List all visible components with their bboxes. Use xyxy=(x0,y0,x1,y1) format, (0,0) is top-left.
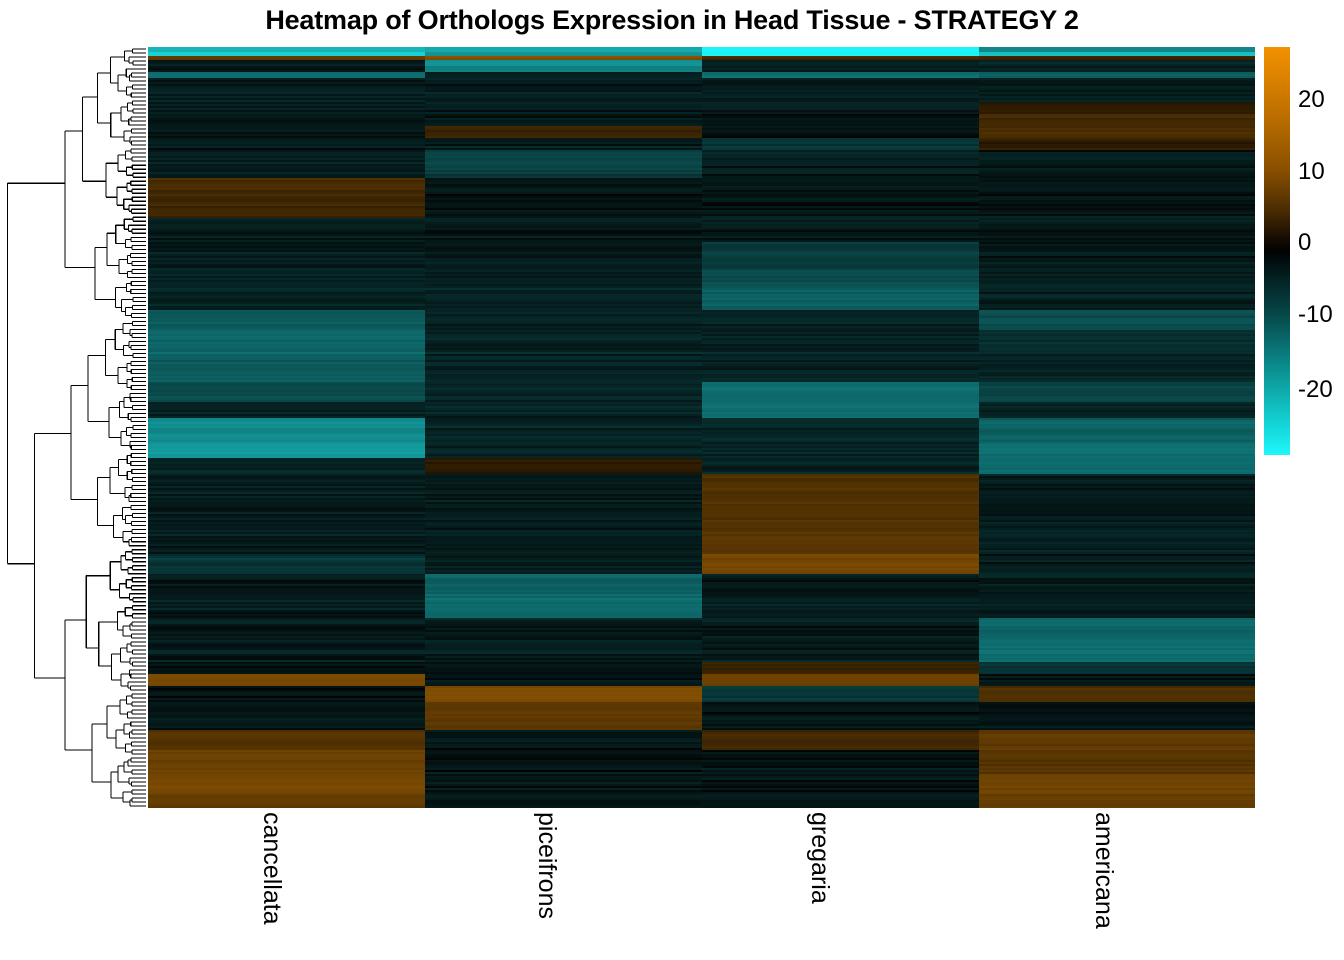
colorbar: 20 10 0 -10 -20 xyxy=(1264,47,1344,457)
heatmap-image xyxy=(148,47,1255,808)
figure-root: Heatmap of Orthologs Expression in Head … xyxy=(0,0,1344,960)
column-label-piceifrons: piceifrons xyxy=(532,812,561,919)
column-label-gregaria: gregaria xyxy=(805,812,834,904)
row-dendrogram-svg xyxy=(0,47,148,808)
colorbar-tick-10: 10 xyxy=(1298,160,1325,184)
row-dendrogram xyxy=(0,47,148,808)
colorbar-gradient xyxy=(1264,47,1290,455)
colorbar-tick-20: 20 xyxy=(1298,88,1325,112)
page-title: Heatmap of Orthologs Expression in Head … xyxy=(0,5,1344,36)
colorbar-tick-neg20: -20 xyxy=(1298,378,1333,402)
column-label-cancellata: cancellata xyxy=(257,812,286,925)
column-label-americana: americana xyxy=(1089,812,1118,929)
colorbar-tick-0: 0 xyxy=(1298,231,1311,255)
heatmap-panel xyxy=(148,47,1255,808)
colorbar-tick-neg10: -10 xyxy=(1298,303,1333,327)
